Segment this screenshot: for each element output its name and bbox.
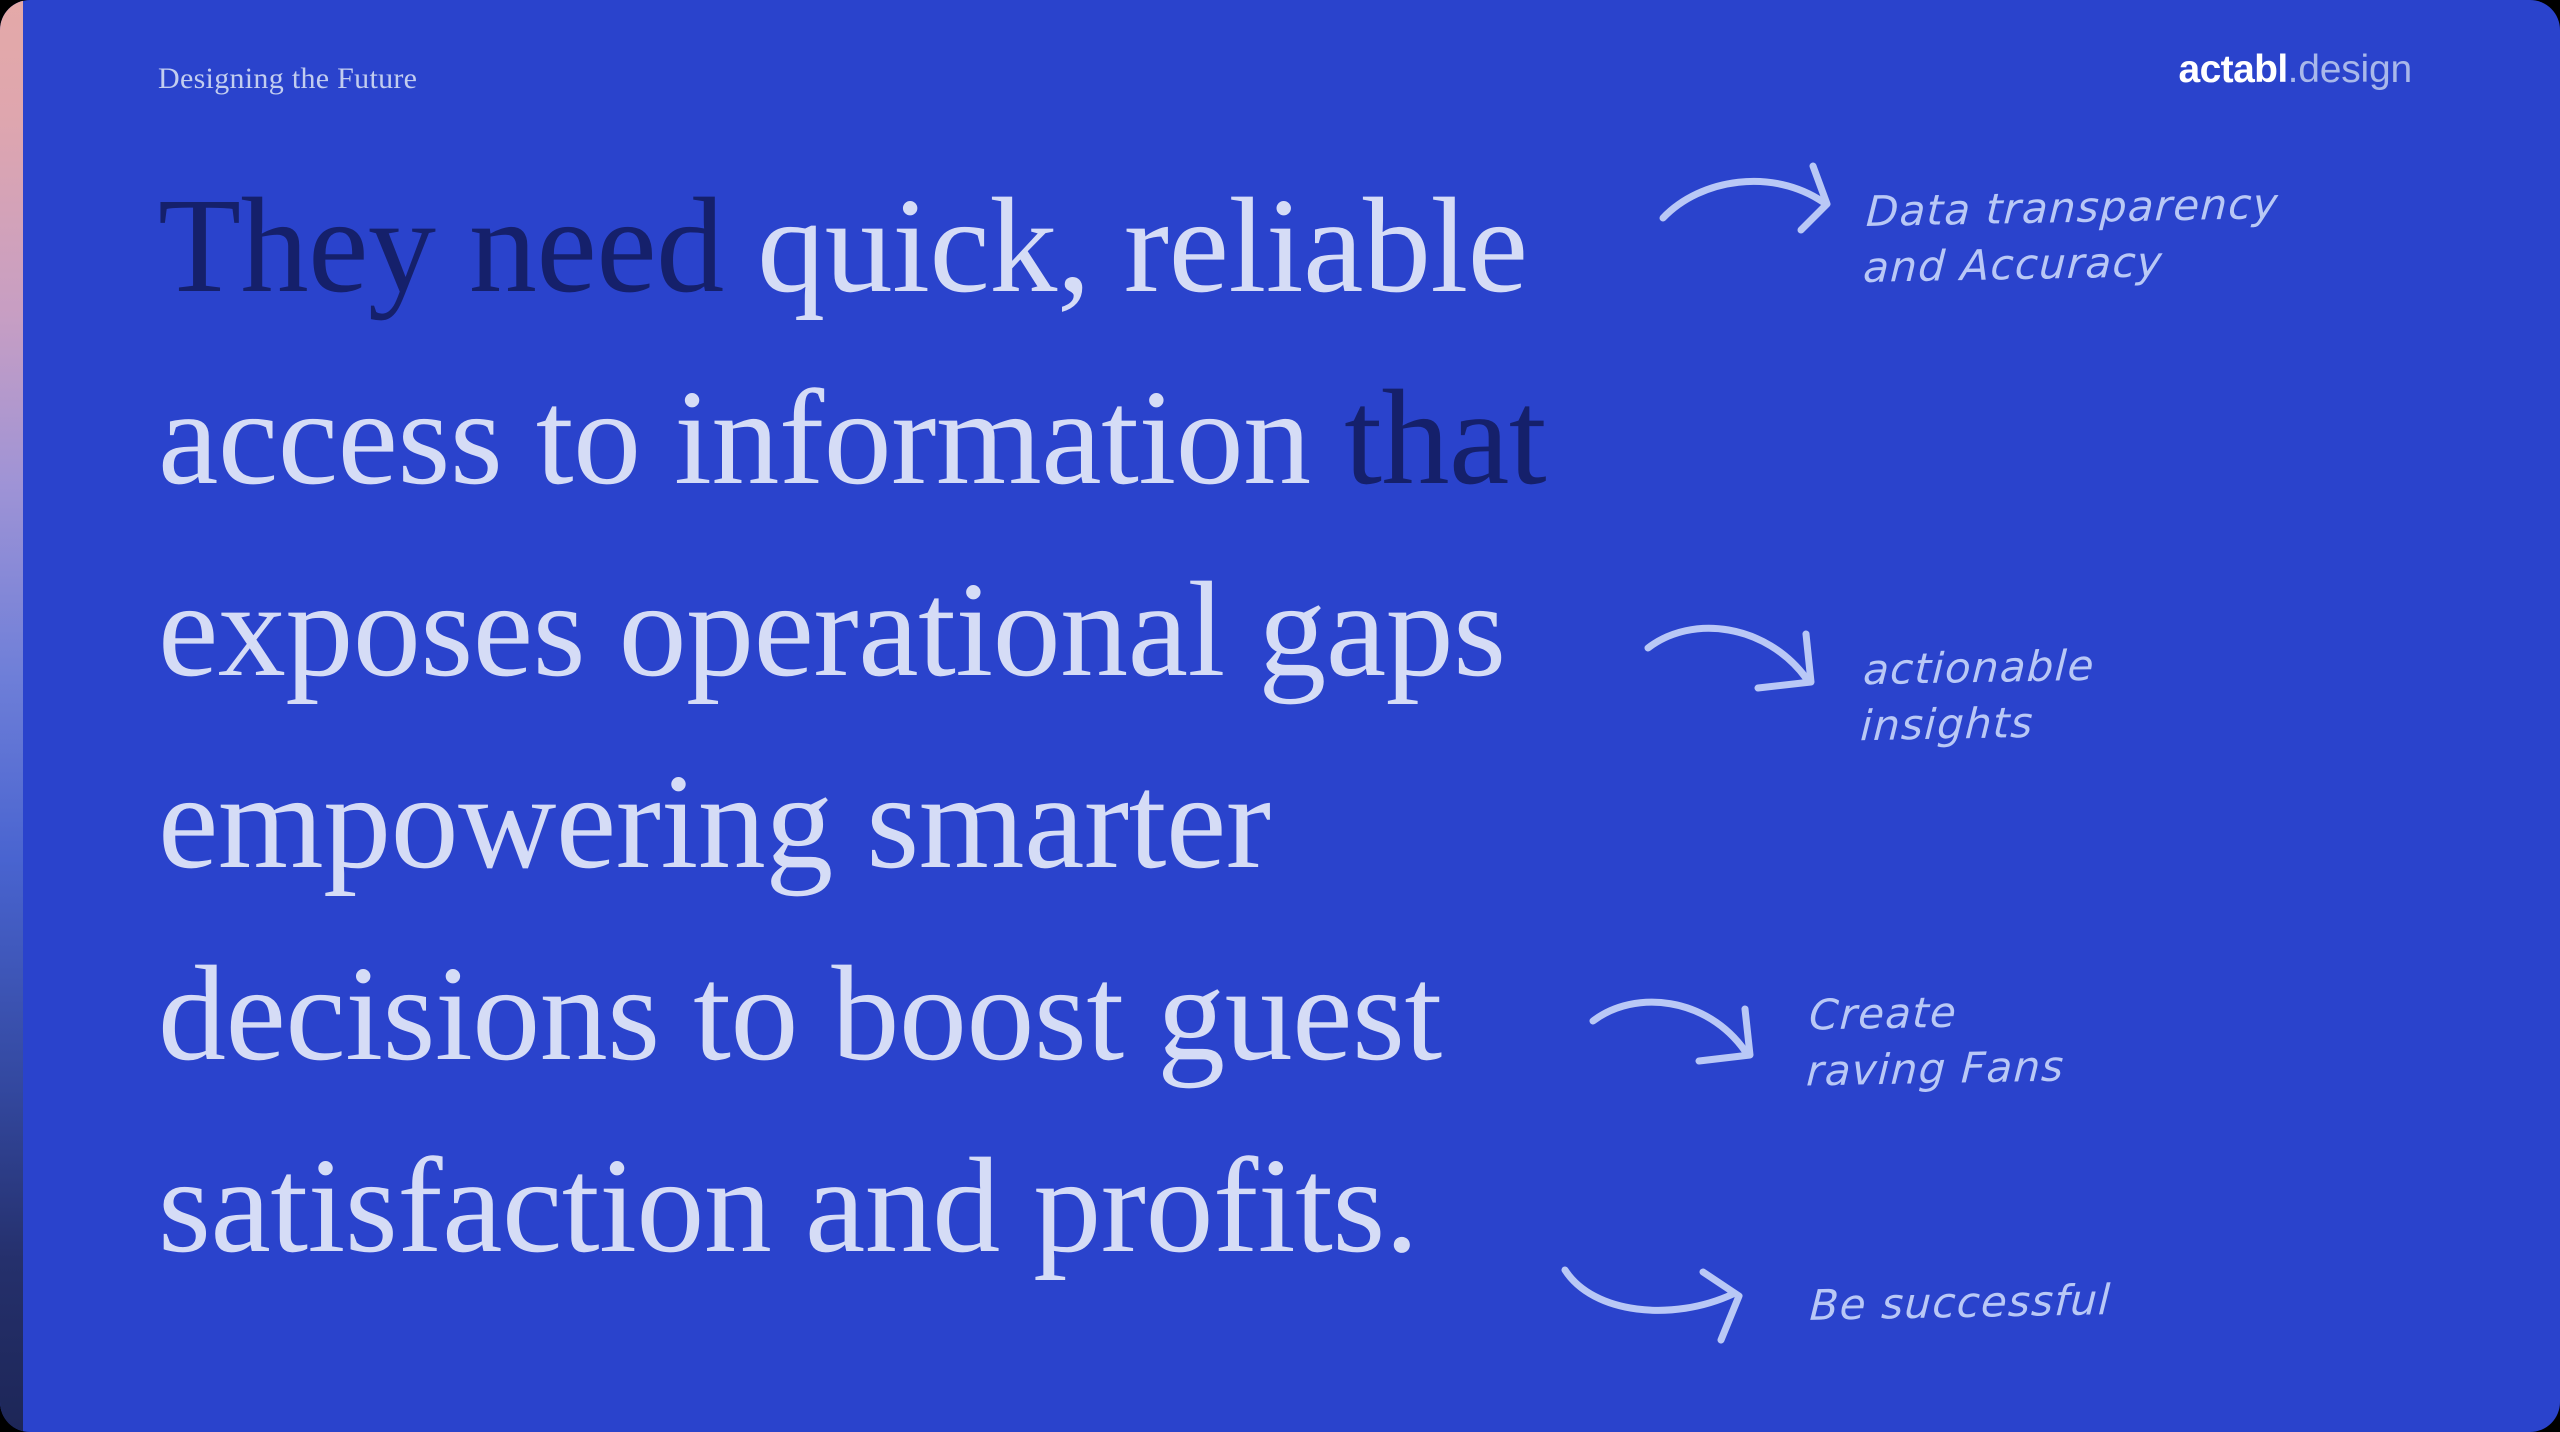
curved-arrow-icon-2 <box>1640 600 1860 700</box>
headline-line-1: They need quick, reliable <box>158 150 1758 342</box>
slide-eyebrow-label: Designing the Future <box>158 62 417 96</box>
headline-line-4: empowering smarter <box>158 726 1758 918</box>
logo-suffix-text: .design <box>2288 48 2412 91</box>
brand-logo: actabl.design <box>2179 50 2413 89</box>
annotation-data-transparency: Data transparency and Accuracy <box>1862 176 2280 296</box>
presentation-slide: Designing the Future actabl.design They … <box>0 0 2560 1432</box>
logo-mark-text: actabl <box>2179 48 2288 91</box>
curved-arrow-icon-1 <box>1655 160 1875 260</box>
left-gradient-accent-strip <box>0 0 23 1432</box>
curved-arrow-icon-3 <box>1585 975 1795 1075</box>
annotation-actionable-insights: actionable insights <box>1859 638 2096 754</box>
headline-plain: quick, reliable <box>757 171 1527 321</box>
headline-line-2: access to information that <box>158 342 1758 534</box>
annotation-be-successful: Be successful <box>1808 1272 2112 1334</box>
headline-line-5: decisions to boost guest <box>158 918 1758 1110</box>
headline-emphasis: that <box>1344 363 1546 513</box>
headline-line-6: satisfaction and profits. <box>158 1110 1758 1302</box>
headline-plain: access to information <box>158 363 1344 513</box>
slide-header: Designing the Future actabl.design <box>0 0 2560 150</box>
annotation-create-raving-fans: Create raving Fans <box>1805 983 2069 1100</box>
curved-arrow-icon-4 <box>1555 1252 1775 1362</box>
headline-emphasis: They need <box>158 171 757 321</box>
headline-line-3: exposes operational gaps <box>158 534 1758 726</box>
headline-block: They need quick, reliable access to info… <box>158 150 1758 1302</box>
